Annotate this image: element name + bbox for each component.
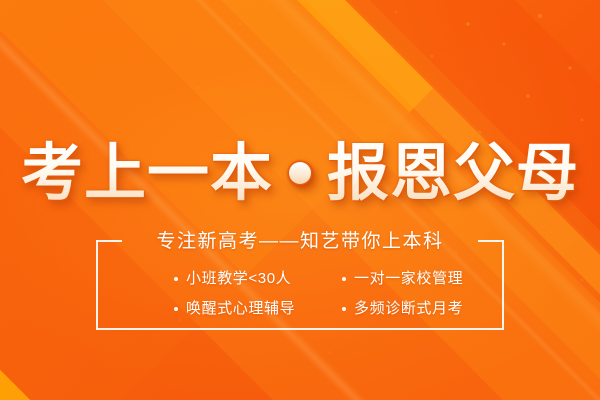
list-item: 小班教学<30人 [174,266,336,292]
headline-part-two: 报恩父母 [327,139,579,208]
page-title: 考上一本报恩父母 [0,136,600,212]
list-item: 多频诊断式月考 [342,296,504,322]
feature-label: 多频诊断式月考 [354,296,463,322]
bullet-dot-icon [174,307,178,311]
list-item: 一对一家校管理 [342,266,504,292]
feature-label: 一对一家校管理 [354,266,463,292]
bullet-dot-icon [342,307,346,311]
headline-part-one: 考上一本 [21,139,273,208]
promo-banner: 考上一本报恩父母 专注新高考——知艺带你上本科 小班教学<30人 一对一家校管理… [0,0,600,400]
bullet-dot-icon [174,277,178,281]
bullet-dot-icon [342,277,346,281]
page-subtitle: 专注新高考——知艺带你上本科 [0,230,600,254]
headline-separator-dot-icon [289,162,311,184]
list-item: 唤醒式心理辅导 [174,296,336,322]
feature-label: 唤醒式心理辅导 [186,296,295,322]
feature-list: 小班教学<30人 一对一家校管理 唤醒式心理辅导 多频诊断式月考 [96,266,504,322]
feature-label: 小班教学<30人 [186,266,291,292]
